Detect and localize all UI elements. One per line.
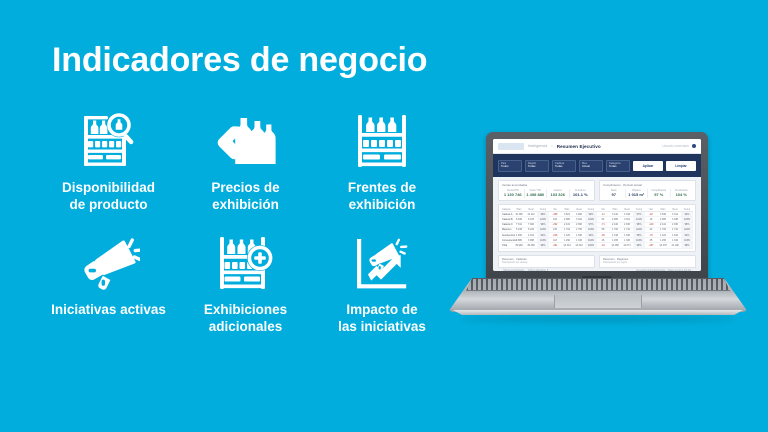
laptop-screen: Inteligencia › Resumen Ejecutivo Usuario… [493, 139, 701, 271]
filter-mes[interactable]: Mes Actual [579, 160, 603, 172]
indicator-label: Precios de exhibición [211, 180, 279, 214]
kpi-value: 1 130 746 [502, 192, 524, 198]
dashboard-filter-bar: País Todos Región Todas Cadena Todas M [493, 154, 701, 177]
breadcrumb-separator: › [551, 144, 552, 148]
bottom-card-row: Resumen · Cadenas Participación por cade… [498, 255, 696, 268]
kpi-card-cumplimiento: Cumplimiento · Periodo actual Meta 97 Ob… [599, 180, 696, 201]
indicator-label: Disponibilidad de producto [62, 180, 155, 214]
filter-value: Actual [582, 165, 600, 169]
kpi-value: 97 % [648, 192, 670, 198]
kpi-value: 1 015 m² [626, 192, 648, 198]
kpi-card-title: Ventas acumuladas [502, 183, 591, 187]
filter-categoria[interactable]: Categoría Todas [606, 160, 630, 172]
shelf-magnifier-icon [78, 108, 140, 170]
kpi-item: Venta MTD 1 130 746 [502, 189, 524, 199]
table-row[interactable]: Total39 98039 48999%-49113 34413 310100%… [501, 243, 693, 248]
kpi-card-ventas: Ventas acumuladas Venta MTD 1 130 746 Ve… [498, 180, 595, 201]
avatar[interactable] [692, 144, 696, 148]
filter-value: Todos [501, 165, 519, 169]
table-cell: 13 310 [573, 243, 585, 248]
laptop-base-edge [450, 310, 746, 315]
table-cell: 13 108 [669, 243, 681, 248]
laptop-shadow [462, 316, 734, 322]
table-body: Cadena A10 48010 11296%-3683 5213 48099%… [501, 212, 693, 248]
shelf-plus-icon [215, 230, 277, 292]
bottom-card-subtitle: Participación por cadena [502, 262, 591, 264]
table-cell: 39 489 [525, 243, 537, 248]
kpi-item: Objetivo 1 015 m² [625, 189, 648, 199]
shelf-bottles-icon [353, 108, 411, 170]
kpi-item: Meta 97 [603, 189, 625, 199]
filter-region[interactable]: Región Todas [525, 160, 549, 172]
breadcrumb-current: Resumen Ejecutivo [557, 144, 601, 149]
kpi-card-title: Cumplimiento · Periodo actual [603, 183, 692, 187]
kpi-item: Cumplimiento 97 % [647, 189, 670, 199]
filter-value: Todas [555, 165, 573, 169]
indicator-label: Frentes de exhibición [348, 180, 416, 214]
bottom-card-regiones: Resumen · Regiones Participación por reg… [599, 255, 696, 268]
indicator-item-iniciativas[interactable]: Iniciativas activas [40, 230, 177, 355]
indicator-item-exhibiciones[interactable]: Exhibiciones adicionales [177, 230, 314, 355]
laptop-lid: Inteligencia › Resumen Ejecutivo Usuario… [486, 132, 708, 282]
table-cell: 100% [585, 243, 597, 248]
dashboard-footer: Última actualización Filtros aplicados: … [498, 268, 696, 271]
kpi-value: 1 498 880 [525, 192, 547, 198]
table-cell: -491 [549, 243, 561, 248]
breadcrumb-parent[interactable]: Inteligencia [528, 144, 547, 148]
table-cell: 39 980 [513, 243, 525, 248]
bottom-card-title: Resumen · Cadenas [502, 258, 591, 261]
megaphone-icon [78, 230, 140, 292]
data-table[interactable]: CadenaPlanRealCumpVarPlanRealCumpVarPlan… [501, 207, 693, 249]
footer-mid: Filtros aplicados: 5 [528, 269, 548, 271]
table-cell: 13 378 [657, 243, 669, 248]
table-cell: 98% [681, 243, 693, 248]
table-cell: 99% [537, 243, 549, 248]
data-table-card: CadenaPlanRealCumpVarPlanRealCumpVarPlan… [498, 204, 696, 252]
app-logo[interactable] [498, 143, 524, 150]
indicator-item-precios[interactable]: Precios de exhibición [177, 108, 314, 230]
indicator-label: Exhibiciones adicionales [204, 302, 287, 336]
table-cell: -187 [645, 243, 657, 248]
bottom-card-cadenas: Resumen · Cadenas Participación por cade… [498, 255, 595, 268]
topbar-user-area[interactable]: Usuario conectado [662, 144, 696, 148]
bottom-card-subtitle: Participación por región [603, 262, 692, 264]
kpi-item: Avance 103 326 [546, 189, 569, 199]
filter-pais[interactable]: País Todos [498, 160, 522, 172]
indicator-item-disponibilidad[interactable]: Disponibilidad de producto [40, 108, 177, 230]
filter-value: Todas [528, 165, 546, 169]
dashboard-body: Ventas acumuladas Venta MTD 1 130 746 Ve… [493, 177, 701, 271]
laptop-keyboard[interactable] [448, 278, 748, 291]
kpi-value: 101.1 % [570, 192, 592, 198]
keyboard-keys [448, 279, 748, 290]
dashboard: Inteligencia › Resumen Ejecutivo Usuario… [493, 139, 701, 271]
footer-right: Generado automáticamente · Datos al cier… [636, 269, 691, 271]
filter-cadena[interactable]: Cadena Todas [552, 160, 576, 172]
apply-filters-button[interactable]: Aplicar [633, 161, 663, 171]
indicator-item-frentes[interactable]: Frentes de exhibición [314, 108, 450, 230]
dashboard-topbar: Inteligencia › Resumen Ejecutivo Usuario… [493, 139, 701, 154]
table-cell: 13 344 [561, 243, 573, 248]
kpi-item: Venta YTD 1 498 880 [524, 189, 547, 199]
price-tag-bottles-icon [214, 108, 278, 170]
user-label: Usuario conectado [662, 144, 689, 148]
indicator-grid: Disponibilidad de producto [40, 108, 450, 355]
table-cell: 13 071 [621, 243, 633, 248]
table-cell: 99% [633, 243, 645, 248]
slide-canvas: Indicadores de negocio [0, 0, 768, 432]
indicator-label: Impacto de las iniciativas [338, 302, 426, 336]
filter-value: Todas [609, 165, 627, 169]
kpi-value: 103 326 [547, 192, 569, 198]
bottom-card-title: Resumen · Regiones [603, 258, 692, 261]
kpi-item: % Avance 101.1 % [569, 189, 592, 199]
indicator-label: Iniciativas activas [51, 302, 166, 319]
chart-arrow-megaphone-icon [352, 230, 412, 292]
table-cell: 13 258 [609, 243, 621, 248]
clear-filters-button[interactable]: Limpiar [666, 161, 696, 171]
page-title: Indicadores de negocio [52, 42, 427, 79]
kpi-item: Crecimiento 104 % [670, 189, 693, 199]
table-cell: -34 [597, 243, 609, 248]
indicator-item-impacto[interactable]: Impacto de las iniciativas [314, 230, 450, 355]
kpi-value: 104 % [671, 192, 693, 198]
laptop-mockup: Inteligencia › Resumen Ejecutivo Usuario… [448, 132, 748, 322]
laptop-trackpad[interactable] [554, 295, 642, 308]
kpi-value: 97 [603, 192, 625, 198]
kpi-row: Ventas acumuladas Venta MTD 1 130 746 Ve… [498, 180, 696, 201]
footer-left: Última actualización [503, 269, 524, 271]
table-row-header: Total [501, 243, 513, 248]
